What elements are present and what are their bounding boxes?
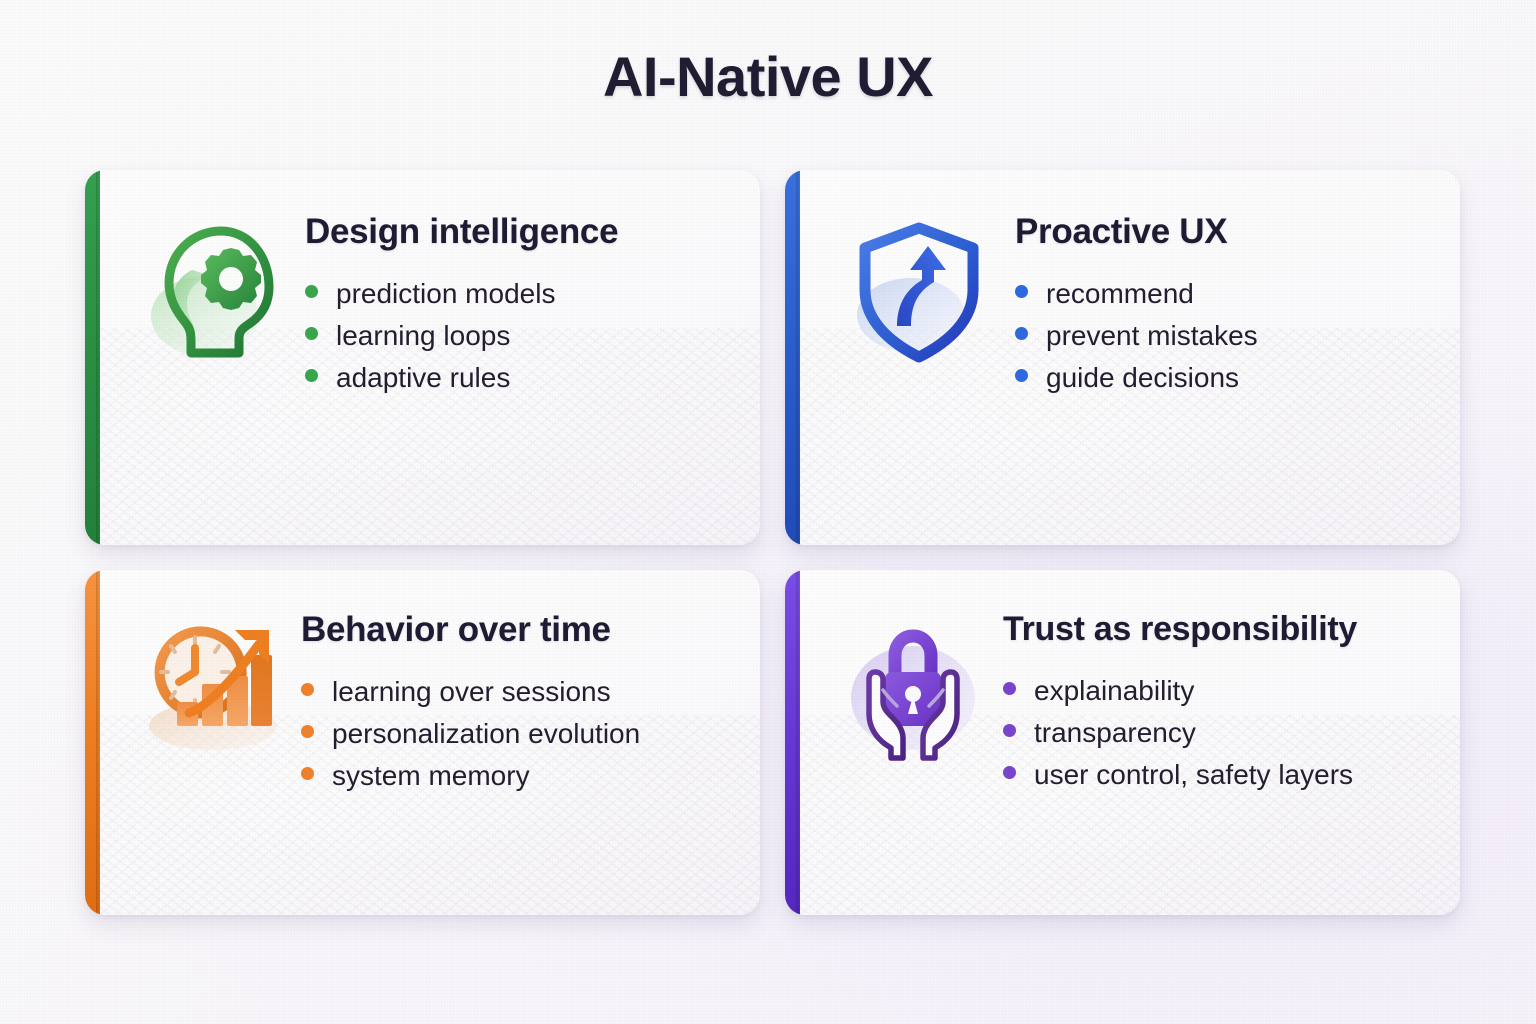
brain-gear-icon xyxy=(131,208,299,376)
list-item-label: learning over sessions xyxy=(332,671,611,713)
card-heading: Design intelligence xyxy=(305,214,730,251)
list-item: prevent mistakes xyxy=(1015,315,1430,357)
bullet-dot xyxy=(1003,766,1016,779)
list-item-label: explainability xyxy=(1034,670,1194,712)
bullet-dot xyxy=(1003,724,1016,737)
list-item: prediction models xyxy=(305,273,730,315)
bullet-dot xyxy=(1015,285,1028,298)
list-item: guide decisions xyxy=(1015,357,1430,399)
list-item: personalization evolution xyxy=(301,713,730,755)
list-item: learning loops xyxy=(305,315,730,357)
bullet-dot xyxy=(305,327,318,340)
card-proactive-ux[interactable]: Proactive UX recommend prevent mistakes … xyxy=(785,170,1460,545)
bullet-dot xyxy=(305,285,318,298)
page-title: AI-Native UX xyxy=(0,44,1536,109)
list-item-label: system memory xyxy=(332,755,530,797)
list-item: transparency xyxy=(1003,712,1430,754)
bullet-dot xyxy=(1003,682,1016,695)
list-item-label: transparency xyxy=(1034,712,1196,754)
card-grid: Design intelligence prediction models le… xyxy=(85,170,1460,915)
list-item: learning over sessions xyxy=(301,671,730,713)
list-item-label: prediction models xyxy=(336,273,555,315)
clock-bar-chart-icon xyxy=(127,606,295,774)
bullet-dot xyxy=(301,725,314,738)
list-item: recommend xyxy=(1015,273,1430,315)
list-item: system memory xyxy=(301,755,730,797)
hands-holding-lock-icon xyxy=(829,606,997,774)
bullet-dot xyxy=(1015,327,1028,340)
card-heading: Proactive UX xyxy=(1015,214,1430,251)
bullet-dot xyxy=(301,683,314,696)
bullet-list: recommend prevent mistakes guide decisio… xyxy=(1015,273,1430,399)
bullet-list: learning over sessions personalization e… xyxy=(301,671,730,797)
card-heading: Behavior over time xyxy=(301,612,730,649)
list-item-label: personalization evolution xyxy=(332,713,640,755)
list-item-label: recommend xyxy=(1046,273,1194,315)
bullet-dot xyxy=(1015,369,1028,382)
card-behavior-over-time[interactable]: Behavior over time learning over session… xyxy=(85,570,760,915)
list-item: adaptive rules xyxy=(305,357,730,399)
bullet-list: prediction models learning loops adaptiv… xyxy=(305,273,730,399)
shield-arrow-up-icon xyxy=(835,208,1003,376)
bullet-dot xyxy=(305,369,318,382)
list-item: user control, safety layers xyxy=(1003,754,1430,796)
bullet-dot xyxy=(301,767,314,780)
card-trust-as-responsibility[interactable]: Trust as responsibility explainability t… xyxy=(785,570,1460,915)
card-design-intelligence[interactable]: Design intelligence prediction models le… xyxy=(85,170,760,545)
list-item-label: user control, safety layers xyxy=(1034,754,1353,796)
card-heading: Trust as responsibility xyxy=(1003,612,1430,648)
list-item-label: learning loops xyxy=(336,315,510,357)
bullet-list: explainability transparency user control… xyxy=(1003,670,1430,796)
list-item-label: adaptive rules xyxy=(336,357,510,399)
list-item-label: prevent mistakes xyxy=(1046,315,1258,357)
list-item-label: guide decisions xyxy=(1046,357,1239,399)
list-item: explainability xyxy=(1003,670,1430,712)
